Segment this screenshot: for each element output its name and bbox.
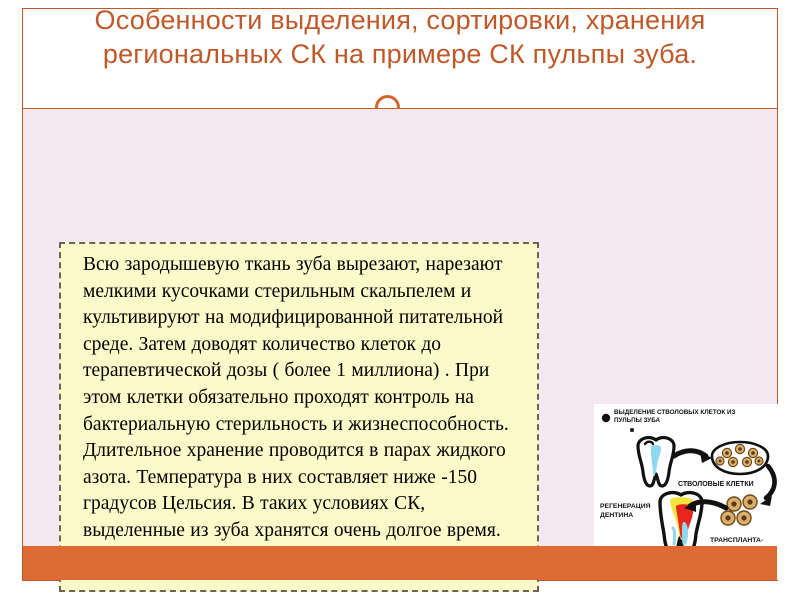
content-paragraph: Всю зародышевую ткань зуба вырезают, нар… [83,252,525,545]
slide-title-area: Особенности выделения, сортировки, хране… [23,9,777,109]
diagram-label-stem-cells: СТВОЛОВЫЕ КЛЕТКИ [678,481,754,488]
bullet-dot-icon [602,414,610,422]
petri-dish-icon [712,442,768,474]
slide: Особенности выделения, сортировки, хране… [0,0,800,600]
content-textbox: Всю зародышевую ткань зуба вырезают, нар… [59,242,539,592]
diagram-caption-line1: ВЫДЕЛЕНИЕ СТВОЛОВЫХ КЛЕТОК ИЗ [614,409,736,416]
diagram-label-transplant-line1: ТРАНСПЛАНТА- [710,537,763,544]
diagram-label-regeneration-line2: ДЕНТИНА [600,512,633,519]
slide-body-area: Всю зародышевую ткань зуба вырезают, нар… [23,109,777,546]
bullet-dot-small-icon [630,428,634,432]
tooth-upper-icon [638,438,674,486]
slide-title: Особенности выделения, сортировки, хране… [23,3,777,71]
footer-bar [23,546,777,580]
diagram-caption-line2: ПУЛЬПЫ ЗУБА [614,417,660,424]
diagram-label-regeneration-line1: РЕГЕНЕРАЦИЯ [600,503,651,510]
